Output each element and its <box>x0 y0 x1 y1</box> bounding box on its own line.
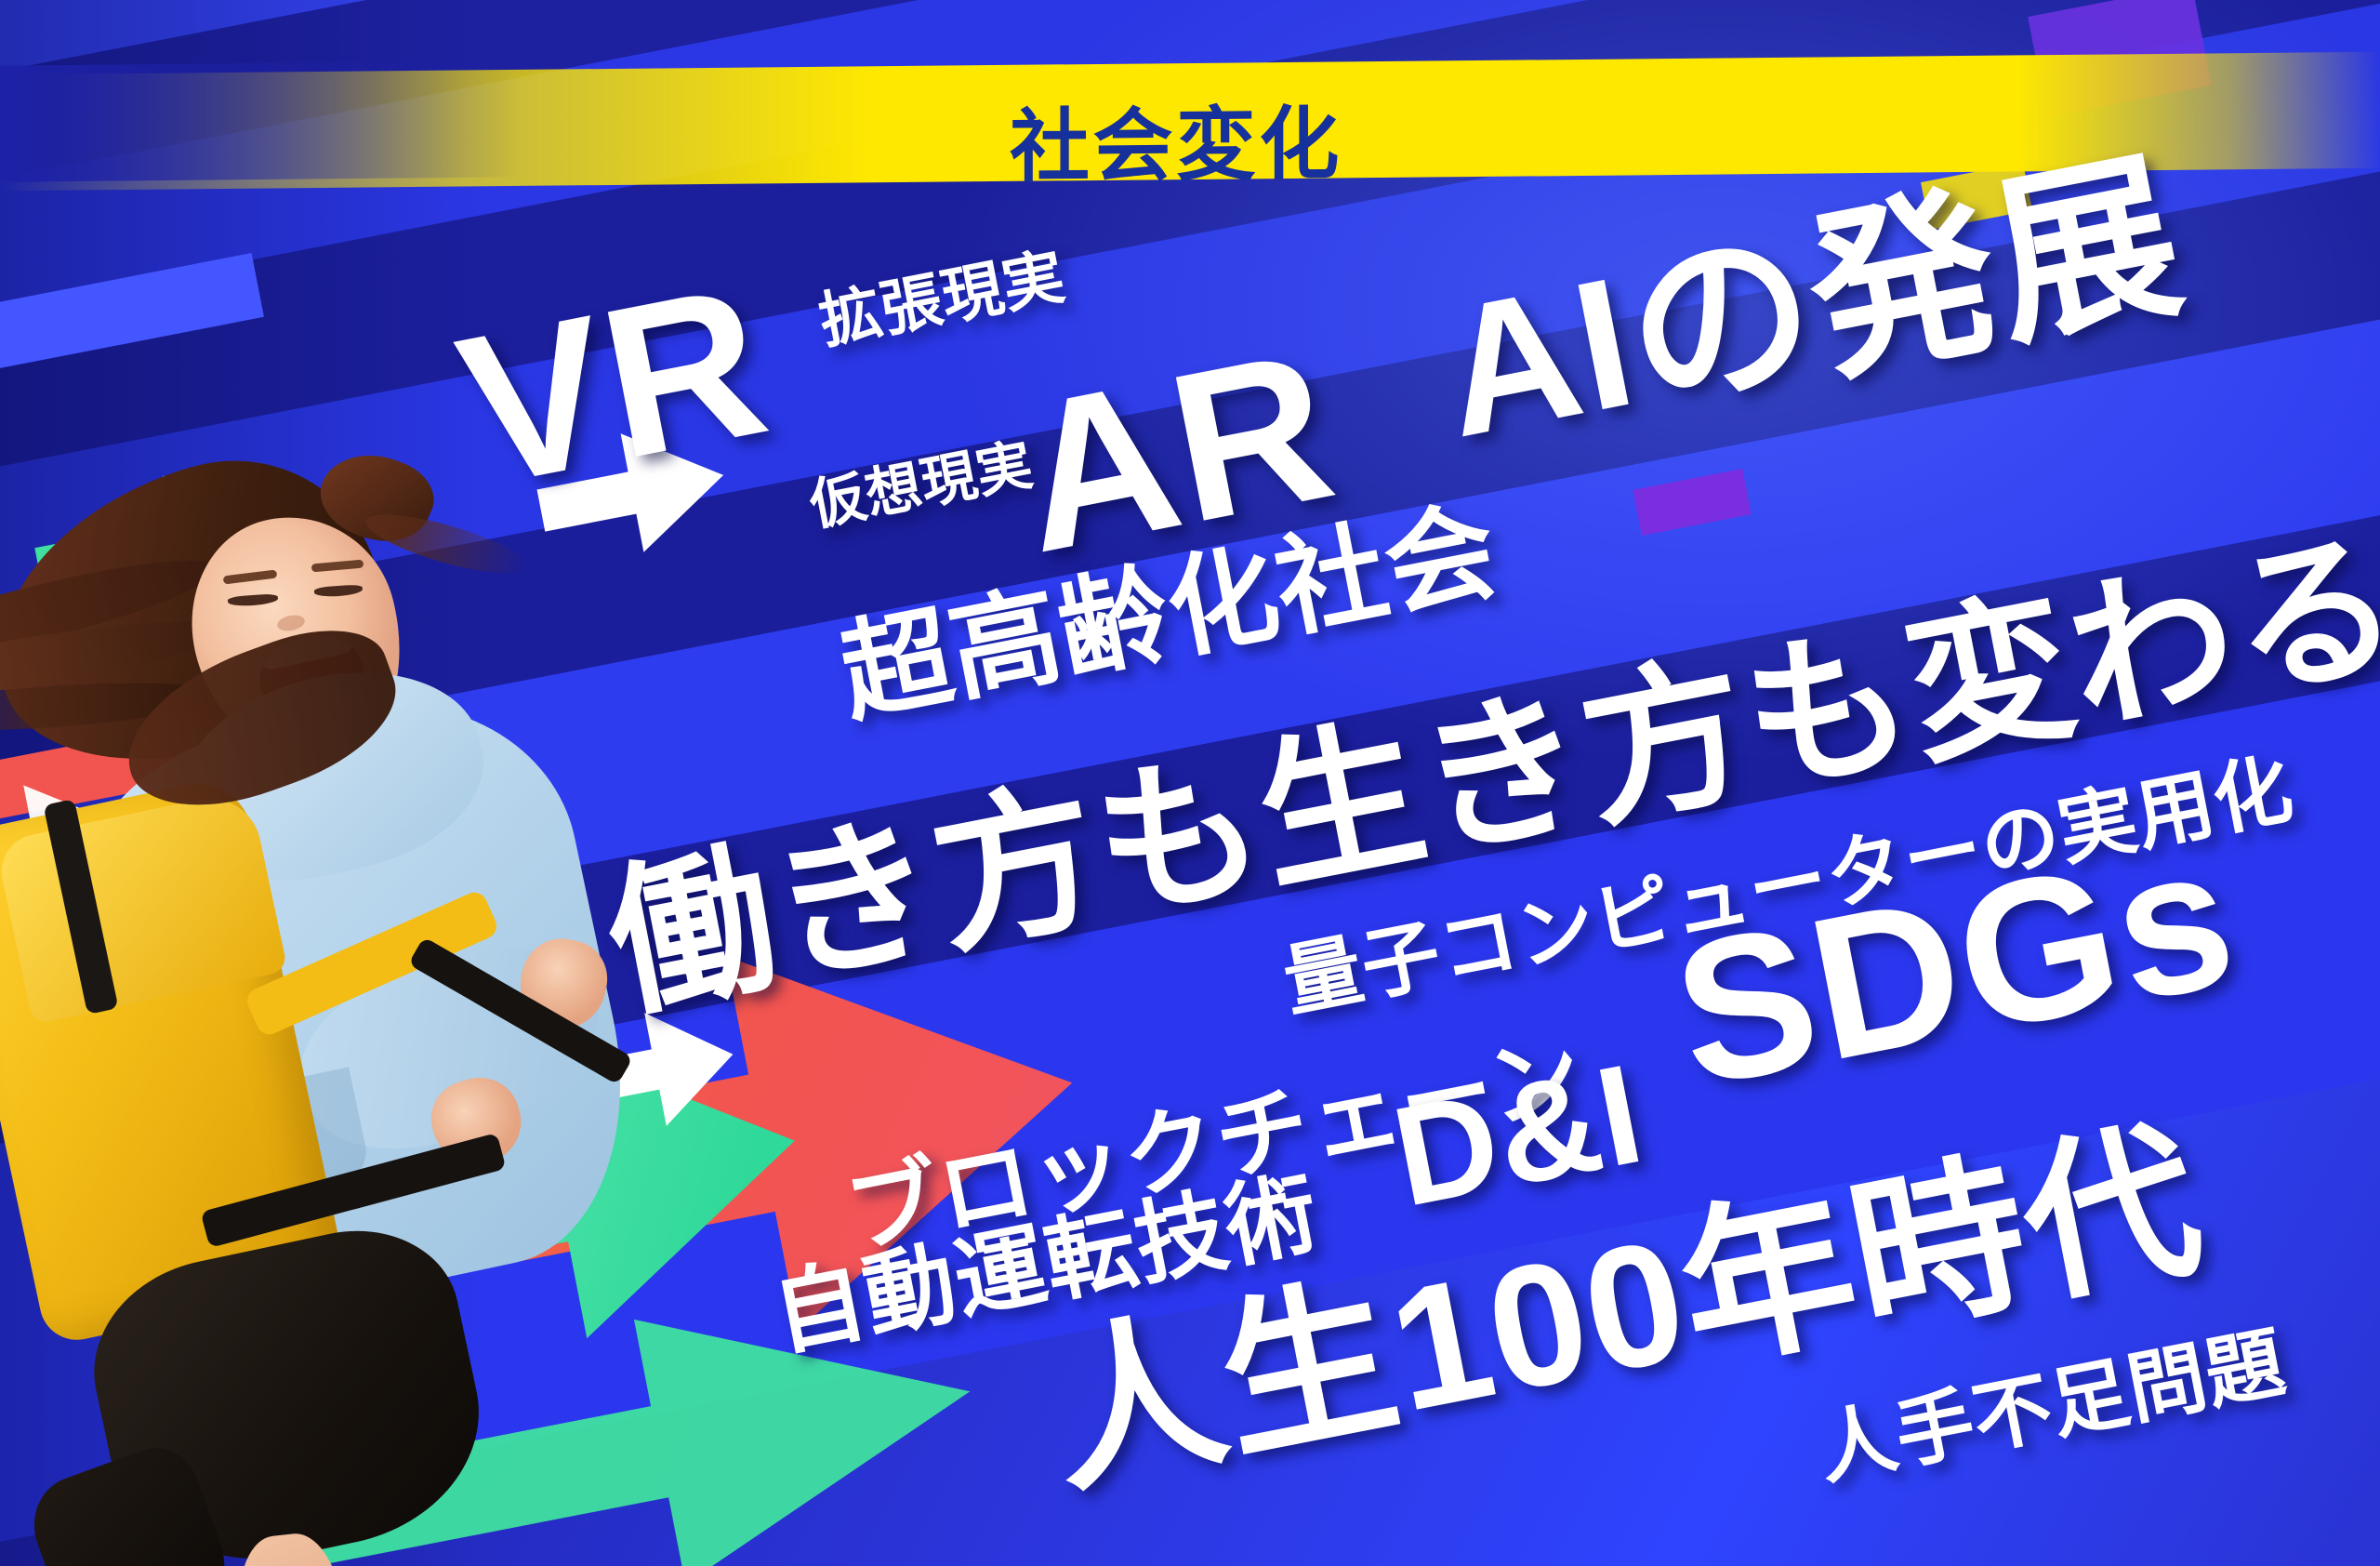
keyword-kaso-genjitsu: 仮想現実 <box>806 436 1038 534</box>
keyword-ai-hatten: AIの発展 <box>1428 142 2195 465</box>
keyword-vr: VR <box>445 252 782 520</box>
chip-purple-mid-right <box>1633 469 1751 536</box>
poster-canvas: 社会変化 VR 拡張現実 仮想現実 AR AIの発展 超高齢化社会 働き方も生き… <box>0 0 2380 1566</box>
page-title: 社会変化 <box>1010 78 1342 198</box>
header-banner-fade <box>0 60 521 181</box>
student-photo <box>0 437 651 1566</box>
chip-blue-bright-left <box>0 253 264 370</box>
keyword-kakucho-genjitsu: 拡張現実 <box>814 245 1069 352</box>
